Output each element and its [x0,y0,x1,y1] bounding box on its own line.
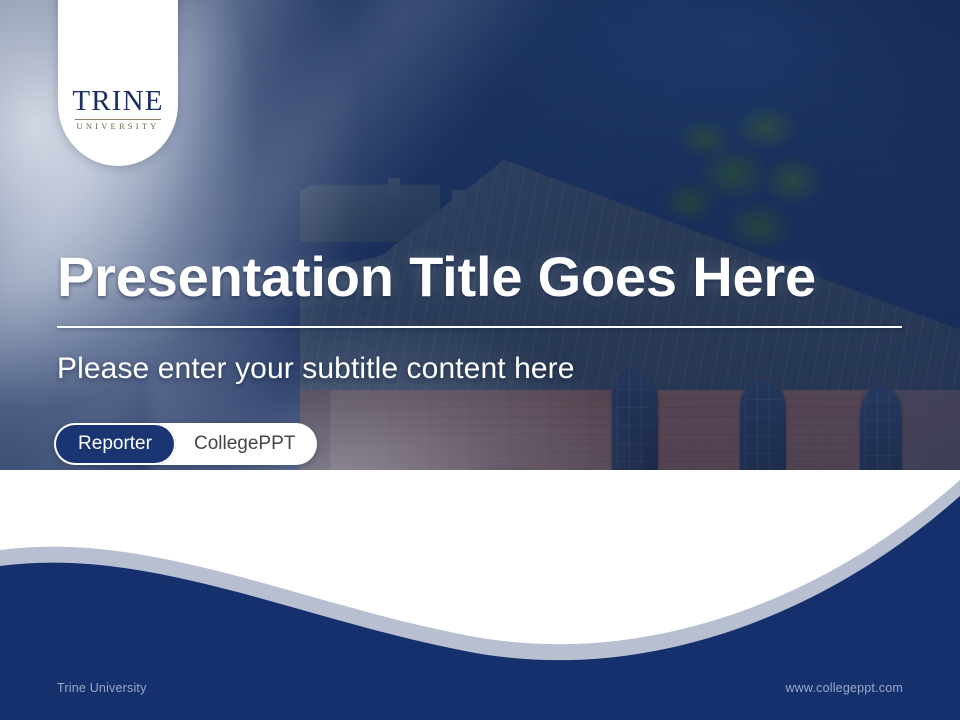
trine-university-logo: TRINE UNIVERSITY [58,0,178,166]
slide-subtitle[interactable]: Please enter your subtitle content here [57,352,575,386]
footer-website[interactable]: www.collegeppt.com [785,681,903,695]
presentation-slide: TRINE UNIVERSITY Presentation Title Goes… [0,0,960,720]
slide-title[interactable]: Presentation Title Goes Here [57,248,927,307]
logo-subtitle-text: UNIVERSITY [77,122,160,131]
footer-institution: Trine University [57,681,147,695]
reporter-label[interactable]: Reporter [54,423,176,465]
reporter-pill[interactable]: Reporter CollegePPT [54,423,317,465]
reporter-value[interactable]: CollegePPT [176,423,317,465]
logo-brand-text: TRINE [72,87,163,116]
logo-divider-rule [75,119,161,120]
title-divider-line [57,326,902,328]
